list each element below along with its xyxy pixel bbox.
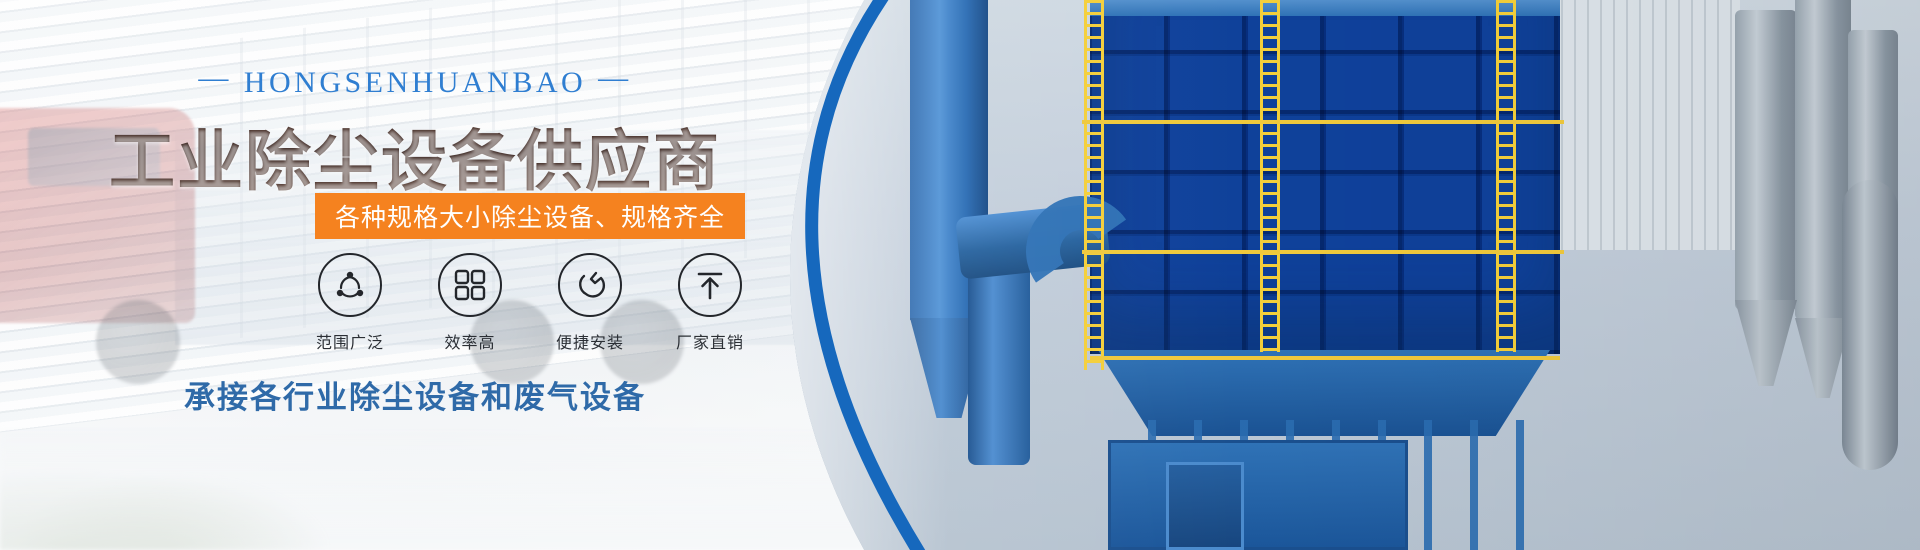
blue-downpipe	[968, 255, 1030, 465]
banner-content: —HONGSENHUANBAO— 工业除尘设备供应商 各种规格大小除尘设备、规格…	[0, 0, 830, 550]
feature-label: 范围广泛	[300, 329, 400, 353]
subtitle-text: 各种规格大小除尘设备、规格齐全	[335, 198, 725, 234]
yellow-handrail	[1090, 356, 1560, 360]
yellow-handrail	[1082, 250, 1564, 254]
steel-silo	[1735, 10, 1797, 310]
base-enclosure	[1108, 440, 1408, 550]
eyebrow-dash-right: —	[586, 61, 644, 95]
feature-item-efficiency[interactable]: 效率高	[420, 253, 520, 353]
yellow-handrail	[1082, 120, 1564, 124]
baghouse-roof	[1090, 0, 1560, 16]
feature-label: 效率高	[420, 329, 520, 353]
yellow-ladder	[1496, 0, 1516, 352]
white-metal-building-2	[1550, 0, 1740, 250]
grid-squares-icon	[438, 253, 502, 317]
bottom-tagline: 承接各行业除尘设备和废气设备	[0, 372, 830, 417]
vertical-pipe	[1842, 180, 1898, 470]
scope-network-icon	[318, 253, 382, 317]
yellow-ladder	[1260, 0, 1280, 352]
access-door	[1166, 462, 1244, 550]
feature-label: 厂家直销	[660, 329, 760, 353]
feature-list: 范围广泛 效率高	[300, 253, 760, 353]
feature-item-factory-direct[interactable]: 厂家直销	[660, 253, 760, 353]
feature-item-scope[interactable]: 范围广泛	[300, 253, 400, 353]
eyebrow-dash-left: —	[186, 61, 244, 95]
eyebrow-text: HONGSENHUANBAO	[244, 66, 586, 99]
yellow-ladder	[1084, 0, 1104, 370]
wrench-tool-icon	[558, 253, 622, 317]
feature-item-install[interactable]: 便捷安装	[540, 253, 640, 353]
baghouse-module-grid	[1090, 0, 1560, 354]
feature-label: 便捷安装	[540, 329, 640, 353]
brand-pinyin-eyebrow: —HONGSENHUANBAO—	[0, 66, 830, 100]
subtitle-orange-bar: 各种规格大小除尘设备、规格齐全	[315, 193, 745, 239]
arrow-up-bar-icon	[678, 253, 742, 317]
dust-collector-photo	[790, 0, 1920, 550]
page-title: 工业除尘设备供应商	[0, 108, 830, 204]
hero-banner: —HONGSENHUANBAO— 工业除尘设备供应商 各种规格大小除尘设备、规格…	[0, 0, 1920, 550]
